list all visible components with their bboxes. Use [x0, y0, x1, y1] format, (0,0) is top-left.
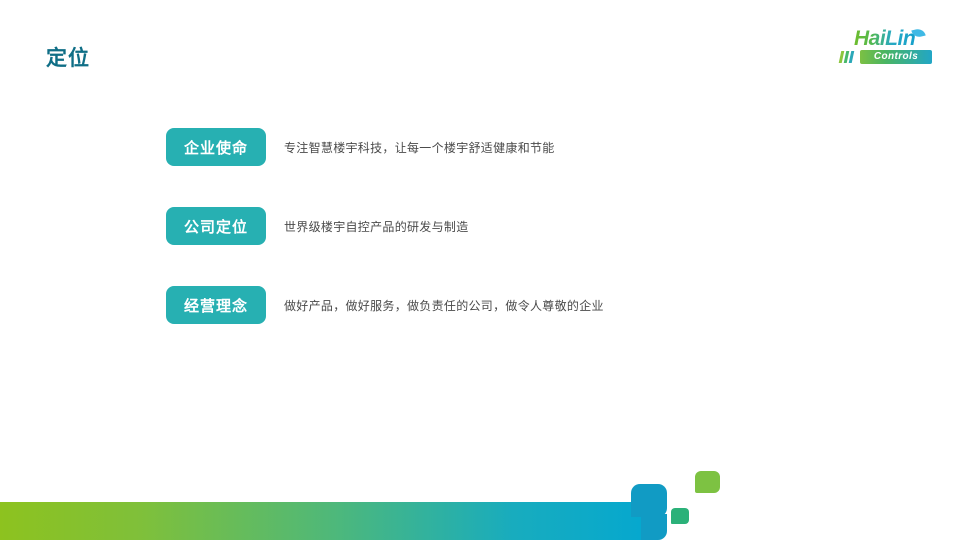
page-title: 定位: [46, 42, 90, 72]
logo-wordmark: HaiLin: [854, 28, 915, 50]
row-badge-mission: 企业使命: [166, 128, 266, 166]
bars-icon: [840, 51, 858, 63]
list-item: 经营理念 做好产品，做好服务，做负责任的公司，做令人尊敬的企业: [166, 286, 906, 324]
company-logo: HaiLin Controls: [840, 28, 932, 72]
decor-green-block: [695, 471, 720, 493]
row-badge-philosophy: 经营理念: [166, 286, 266, 324]
list-item: 企业使命 专注智慧楼宇科技，让每一个楼宇舒适健康和节能: [166, 128, 906, 166]
row-text-positioning: 世界级楼宇自控产品的研发与制造: [284, 218, 469, 235]
decor-blue-tab: [641, 514, 667, 540]
row-text-mission: 专注智慧楼宇科技，让每一个楼宇舒适健康和节能: [284, 139, 555, 156]
decor-blue-block: [631, 484, 667, 517]
logo-subrow: Controls: [840, 50, 932, 64]
row-text-philosophy: 做好产品，做好服务，做负责任的公司，做令人尊敬的企业: [284, 297, 604, 314]
row-badge-positioning: 公司定位: [166, 207, 266, 245]
list-item: 公司定位 世界级楼宇自控产品的研发与制造: [166, 207, 906, 245]
slide-canvas: 定位 HaiLin Controls 企业使命 专注智慧楼宇科技，让每一个楼宇舒…: [0, 0, 960, 540]
decor-teal-block: [671, 508, 689, 524]
content-rows: 企业使命 专注智慧楼宇科技，让每一个楼宇舒适健康和节能 公司定位 世界级楼宇自控…: [166, 128, 906, 324]
logo-subtext: Controls: [860, 50, 932, 64]
footer-gradient-bar: [0, 502, 641, 540]
